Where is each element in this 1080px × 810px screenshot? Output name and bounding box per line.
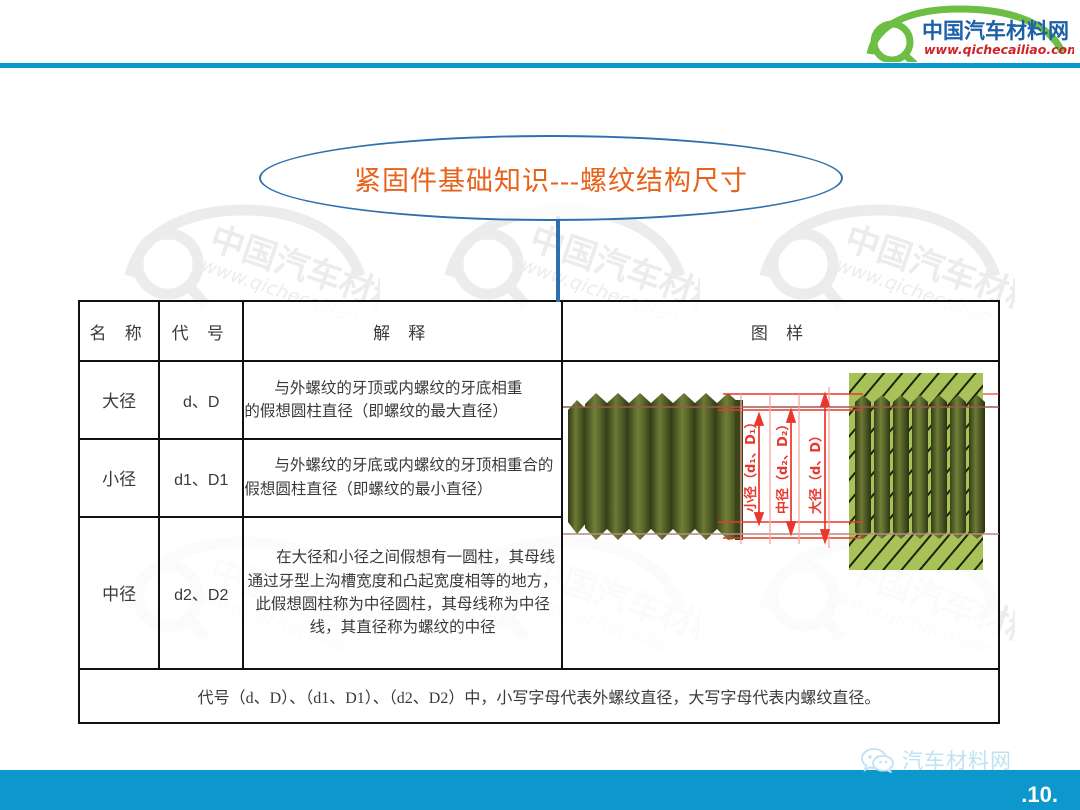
header-divider xyxy=(0,63,1080,68)
slide-title-ellipse: 紧固件基础知识---螺纹结构尺寸 xyxy=(259,135,843,221)
thread-spec-table: 名 称 代 号 解 释 图 样 大径 d、D 与外螺纹的牙顶或内螺纹的牙底相重 … xyxy=(78,300,1000,724)
svg-text:小径（d₁、D₁）: 小径（d₁、D₁） xyxy=(743,416,759,513)
row-desc-pitch: 在大径和小径之间假想有一圆柱，其母线通过牙型上沟槽宽度和凸起宽度相等的地方，此假… xyxy=(243,517,562,669)
title-connector-line xyxy=(556,216,560,302)
wechat-bubble-icon xyxy=(861,747,895,773)
wechat-follow-mark: 汽车材料网 xyxy=(861,745,1012,775)
footer-bar xyxy=(0,770,1080,810)
row-name-pitch: 中径 xyxy=(79,517,159,669)
page-title: 紧固件基础知识---螺纹结构尺寸 xyxy=(354,159,748,198)
column-header-figure: 图 样 xyxy=(562,301,999,361)
row-name-major: 大径 xyxy=(79,361,159,439)
table-footer-row: 代号（d、D）、（d1、D1）、（d2、D2）中，小写字母代表外螺纹直径，大写字… xyxy=(79,669,999,723)
column-header-code: 代 号 xyxy=(159,301,243,361)
row-code-pitch: d2、D2 xyxy=(159,517,243,669)
figure-cell: 小径（d₁、D₁） 中径（d₂、D₂） 大径（d、D） xyxy=(562,361,999,669)
svg-text:中国汽车材料网: 中国汽车材料网 xyxy=(922,19,1069,43)
table-footnote: 代号（d、D）、（d1、D1）、（d2、D2）中，小写字母代表外螺纹直径，大写字… xyxy=(79,669,999,723)
slide-canvas: 中国汽车材料网 www.qichecailiao.com 中国汽车材料网 www… xyxy=(0,0,1080,810)
column-header-desc: 解 释 xyxy=(243,301,562,361)
row-desc-major: 与外螺纹的牙顶或内螺纹的牙底相重 的假想圆柱直径（即螺纹的最大直径） xyxy=(243,361,562,439)
row-name-minor: 小径 xyxy=(79,439,159,517)
column-header-name: 名 称 xyxy=(79,301,159,361)
page-number: .10. xyxy=(1021,782,1058,808)
row-code-major: d、D xyxy=(159,361,243,439)
wechat-account-name: 汽车材料网 xyxy=(902,745,1012,775)
table-row: 大径 d、D 与外螺纹的牙顶或内螺纹的牙底相重 的假想圆柱直径（即螺纹的最大直径… xyxy=(79,361,999,439)
table-header-row: 名 称 代 号 解 释 图 样 xyxy=(79,301,999,361)
row-code-minor: d1、D1 xyxy=(159,439,243,517)
svg-text:www.qichecailiao.com: www.qichecailiao.com xyxy=(924,42,1074,57)
svg-text:大径（d、D）: 大径（d、D） xyxy=(808,429,824,514)
row-desc-minor: 与外螺纹的牙底或内螺纹的牙顶相重合的假想圆柱直径（即螺纹的最小直径） xyxy=(243,439,562,517)
svg-text:中径（d₂、D₂）: 中径（d₂、D₂） xyxy=(775,418,791,515)
qichecailiao-logo: 中国汽车材料网 www.qichecailiao.com xyxy=(862,4,1074,62)
thread-dimension-diagram: 小径（d₁、D₁） 中径（d₂、D₂） 大径（d、D） xyxy=(563,362,999,668)
